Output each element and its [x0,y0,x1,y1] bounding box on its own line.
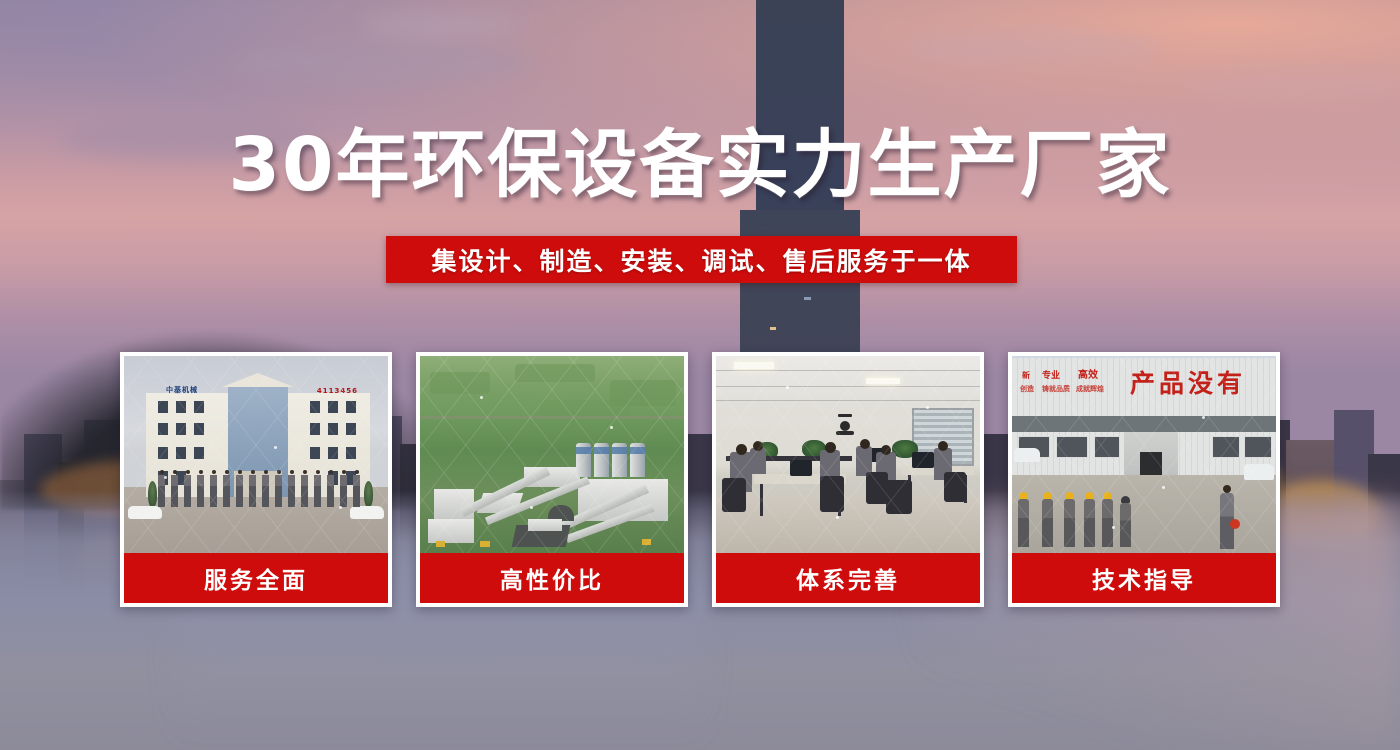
card-caption: 技术指导 [1012,553,1276,603]
feature-card-list: 中基机械 4113456 [120,352,1280,607]
feature-card[interactable]: 产品没有 新 专业 高效 创造 铸就品质 成就辉煌 [1008,352,1280,607]
cloud-shape [360,10,520,40]
factory-workers-training-photo: 产品没有 新 专业 高效 创造 铸就品质 成就辉煌 [1012,356,1276,553]
card-caption-text: 体系完善 [796,561,900,595]
company-headquarters-photo: 中基机械 4113456 [124,356,388,553]
card-caption: 高性价比 [420,553,684,603]
card-caption: 体系完善 [716,553,980,603]
building-phone-text: 4113456 [317,387,358,395]
cloud-shape [230,40,530,86]
feature-card[interactable]: 体系完善 [712,352,984,607]
factory-wall-text: 产品没有 [1130,364,1246,400]
cloud-shape [900,30,1160,64]
page-title: 30年环保设备实力生产厂家 [0,128,1400,202]
office-staff-photo [716,356,980,553]
cloud-shape [1180,70,1400,100]
feature-card[interactable]: 高性价比 [416,352,688,607]
card-caption-text: 高性价比 [500,561,604,595]
feature-card[interactable]: 中基机械 4113456 [120,352,392,607]
hero-banner: 30年环保设备实力生产厂家 集设计、制造、安装、调试、售后服务于一体 [0,0,1400,750]
card-caption-text: 服务全面 [204,561,308,595]
building-sign-text: 中基机械 [166,385,198,395]
subtitle-text: 集设计、制造、安装、调试、售后服务于一体 [431,242,971,278]
wall-logo-icon [828,414,862,440]
card-caption-text: 技术指导 [1092,561,1196,595]
card-caption: 服务全面 [124,553,388,603]
subtitle-banner: 集设计、制造、安装、调试、售后服务于一体 [386,236,1017,283]
aerial-production-plant-photo [420,356,684,553]
red-helmet-icon [1230,519,1240,529]
